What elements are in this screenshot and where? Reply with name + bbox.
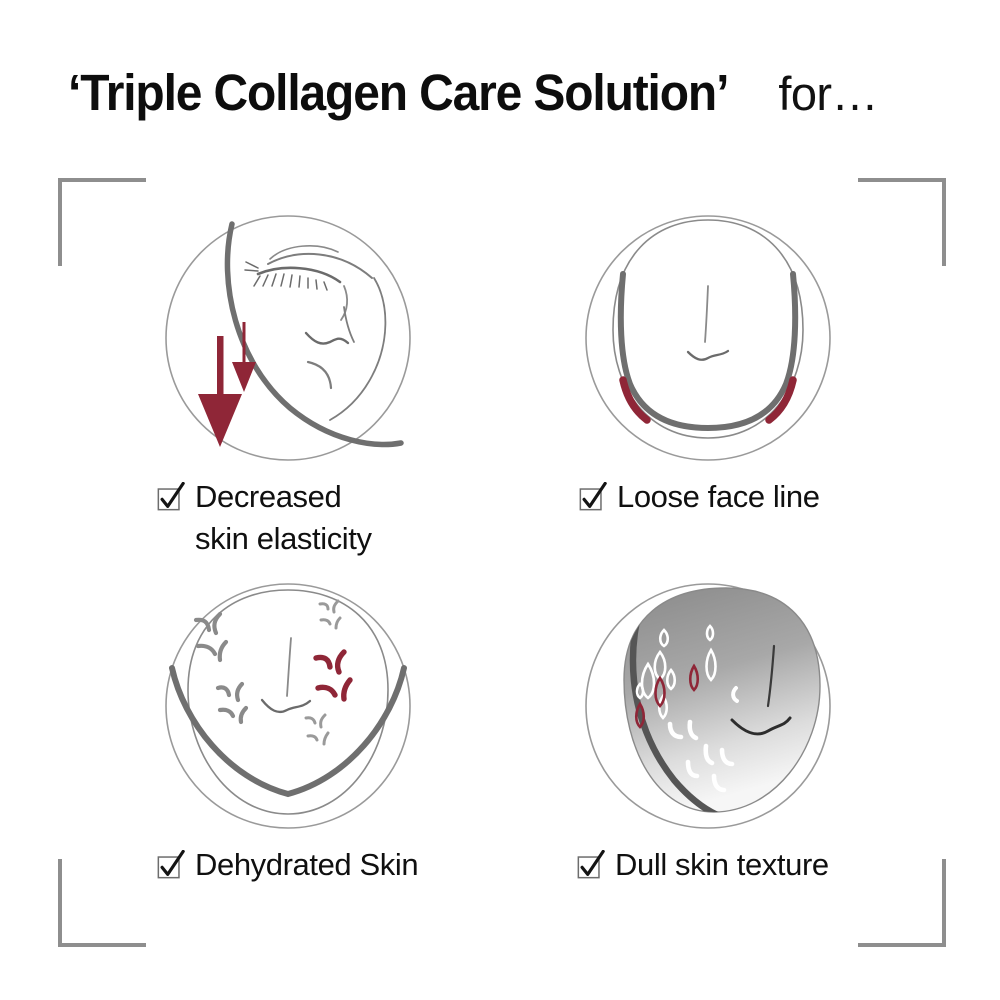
concern-label: Loose face line (617, 476, 820, 518)
page-title-emphasis: ‘Triple Collagen Care Solution’ (68, 58, 728, 128)
concern-card-dull-skin-texture: Dull skin texture (540, 580, 940, 886)
concern-card-loose-face-line: Loose face line (540, 212, 940, 518)
checked-checkbox-icon[interactable] (578, 482, 608, 512)
page-title-suffix: for… (778, 67, 877, 120)
front-face-jawline-icon (578, 212, 838, 472)
checked-checkbox-icon[interactable] (156, 850, 186, 880)
concern-card-decreased-skin-elasticity: Decreased skin elasticity (118, 212, 518, 560)
checked-checkbox-icon[interactable] (156, 482, 186, 512)
concern-label: Decreased skin elasticity (195, 476, 372, 560)
concern-label: Dehydrated Skin (195, 844, 418, 886)
concern-label: Dull skin texture (615, 844, 829, 886)
concern-caption-row: Dull skin texture (576, 844, 940, 886)
profile-face-sagging-arrows-icon (158, 212, 418, 472)
checked-checkbox-icon[interactable] (576, 850, 606, 880)
concern-card-dehydrated-skin: Dehydrated Skin (118, 580, 518, 886)
concern-caption-row: Loose face line (578, 476, 940, 518)
concern-caption-row: Dehydrated Skin (156, 844, 518, 886)
face-dull-gray-pores-icon (578, 580, 838, 840)
face-dry-cracks-icon (158, 580, 418, 840)
page-title: ‘Triple Collagen Care Solution’for… (68, 58, 968, 128)
concern-caption-row: Decreased skin elasticity (156, 476, 518, 560)
